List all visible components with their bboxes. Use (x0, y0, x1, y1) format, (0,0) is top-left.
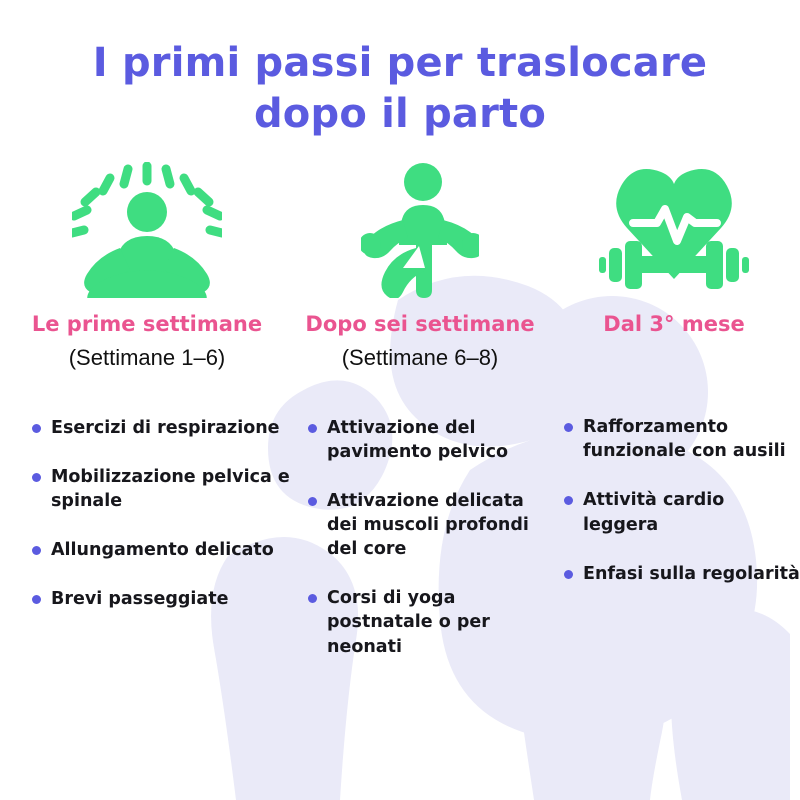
bullet-dot-icon (564, 496, 573, 505)
list-item: Brevi passeggiate (32, 587, 298, 611)
list-item: Attività cardio leggera (564, 488, 800, 536)
bullet-dot-icon (32, 595, 41, 604)
list-item: Rafforzamento funzionale con ausili (564, 415, 800, 463)
bullet-dot-icon (308, 424, 317, 433)
list-item-label: Attivazione del pavimento pelvico (327, 418, 508, 462)
list-item: Esercizi di respirazione (32, 416, 298, 440)
list-item-label: Brevi passeggiate (51, 589, 228, 609)
list-item-label: Enfasi sulla regolarità (583, 564, 800, 584)
column-first-weeks: Le prime settimane (Settimane 1–6) Eserc… (0, 160, 290, 611)
bullet-dot-icon (564, 570, 573, 579)
list-item: Enfasi sulla regolarità (564, 562, 800, 586)
list-item-label: Esercizi di respirazione (51, 418, 280, 438)
bullet-dot-icon (32, 546, 41, 555)
page-title: I primi passi per traslocare dopo il par… (0, 38, 800, 140)
list-item: Corsi di yoga postnatale o per neonati (308, 586, 556, 658)
heart-heartbeat-dumbbell-icon (599, 165, 749, 295)
yoga-tree-pose-icon (361, 162, 479, 298)
list-item-label: Attività cardio leggera (583, 490, 724, 534)
icon-wrap-from-third-month (599, 160, 749, 300)
icon-wrap-first-weeks (72, 160, 222, 300)
bullet-dot-icon (32, 473, 41, 482)
column-after-six-weeks: Dopo sei settimane (Settimane 6–8) Attiv… (290, 160, 550, 659)
meditating-person-icon (72, 162, 222, 298)
title-block: I primi passi per traslocare dopo il par… (0, 38, 800, 140)
bullet-dot-icon (308, 497, 317, 506)
list-item: Allungamento delicato (32, 538, 298, 562)
columns-container: Le prime settimane (Settimane 1–6) Eserc… (0, 160, 800, 659)
bullet-list-first-weeks: Esercizi di respirazione Mobilizzazione … (14, 416, 298, 612)
list-item-label: Mobilizzazione pelvica e spinale (51, 467, 290, 511)
bullet-dot-icon (308, 594, 317, 603)
list-item-label: Attivazione delicata dei muscoli profond… (327, 491, 529, 559)
list-item-label: Allungamento delicato (51, 540, 274, 560)
column-heading-first-weeks: Le prime settimane (32, 312, 262, 336)
column-heading-from-third-month: Dal 3° mese (603, 312, 744, 336)
bullet-list-after-six-weeks: Attivazione del pavimento pelvico Attiva… (296, 416, 556, 659)
list-item-label: Rafforzamento funzionale con ausili (583, 417, 786, 461)
icon-wrap-after-six-weeks (361, 160, 479, 300)
column-from-third-month: Dal 3° mese Rafforzamento funzionale con… (550, 160, 800, 586)
list-item: Mobilizzazione pelvica e spinale (32, 465, 298, 513)
list-item: Attivazione delicata dei muscoli profond… (308, 489, 556, 561)
list-item: Attivazione del pavimento pelvico (308, 416, 556, 464)
column-heading-after-six-weeks: Dopo sei settimane (305, 312, 534, 336)
infographic-poster: I primi passi per traslocare dopo il par… (0, 0, 800, 800)
list-item-label: Corsi di yoga postnatale o per neonati (327, 588, 490, 656)
column-subtitle-first-weeks: (Settimane 1–6) (69, 345, 226, 371)
bullet-list-from-third-month: Rafforzamento funzionale con ausili Atti… (554, 415, 800, 586)
bullet-dot-icon (32, 424, 41, 433)
bullet-dot-icon (564, 423, 573, 432)
column-subtitle-after-six-weeks: (Settimane 6–8) (342, 345, 499, 371)
